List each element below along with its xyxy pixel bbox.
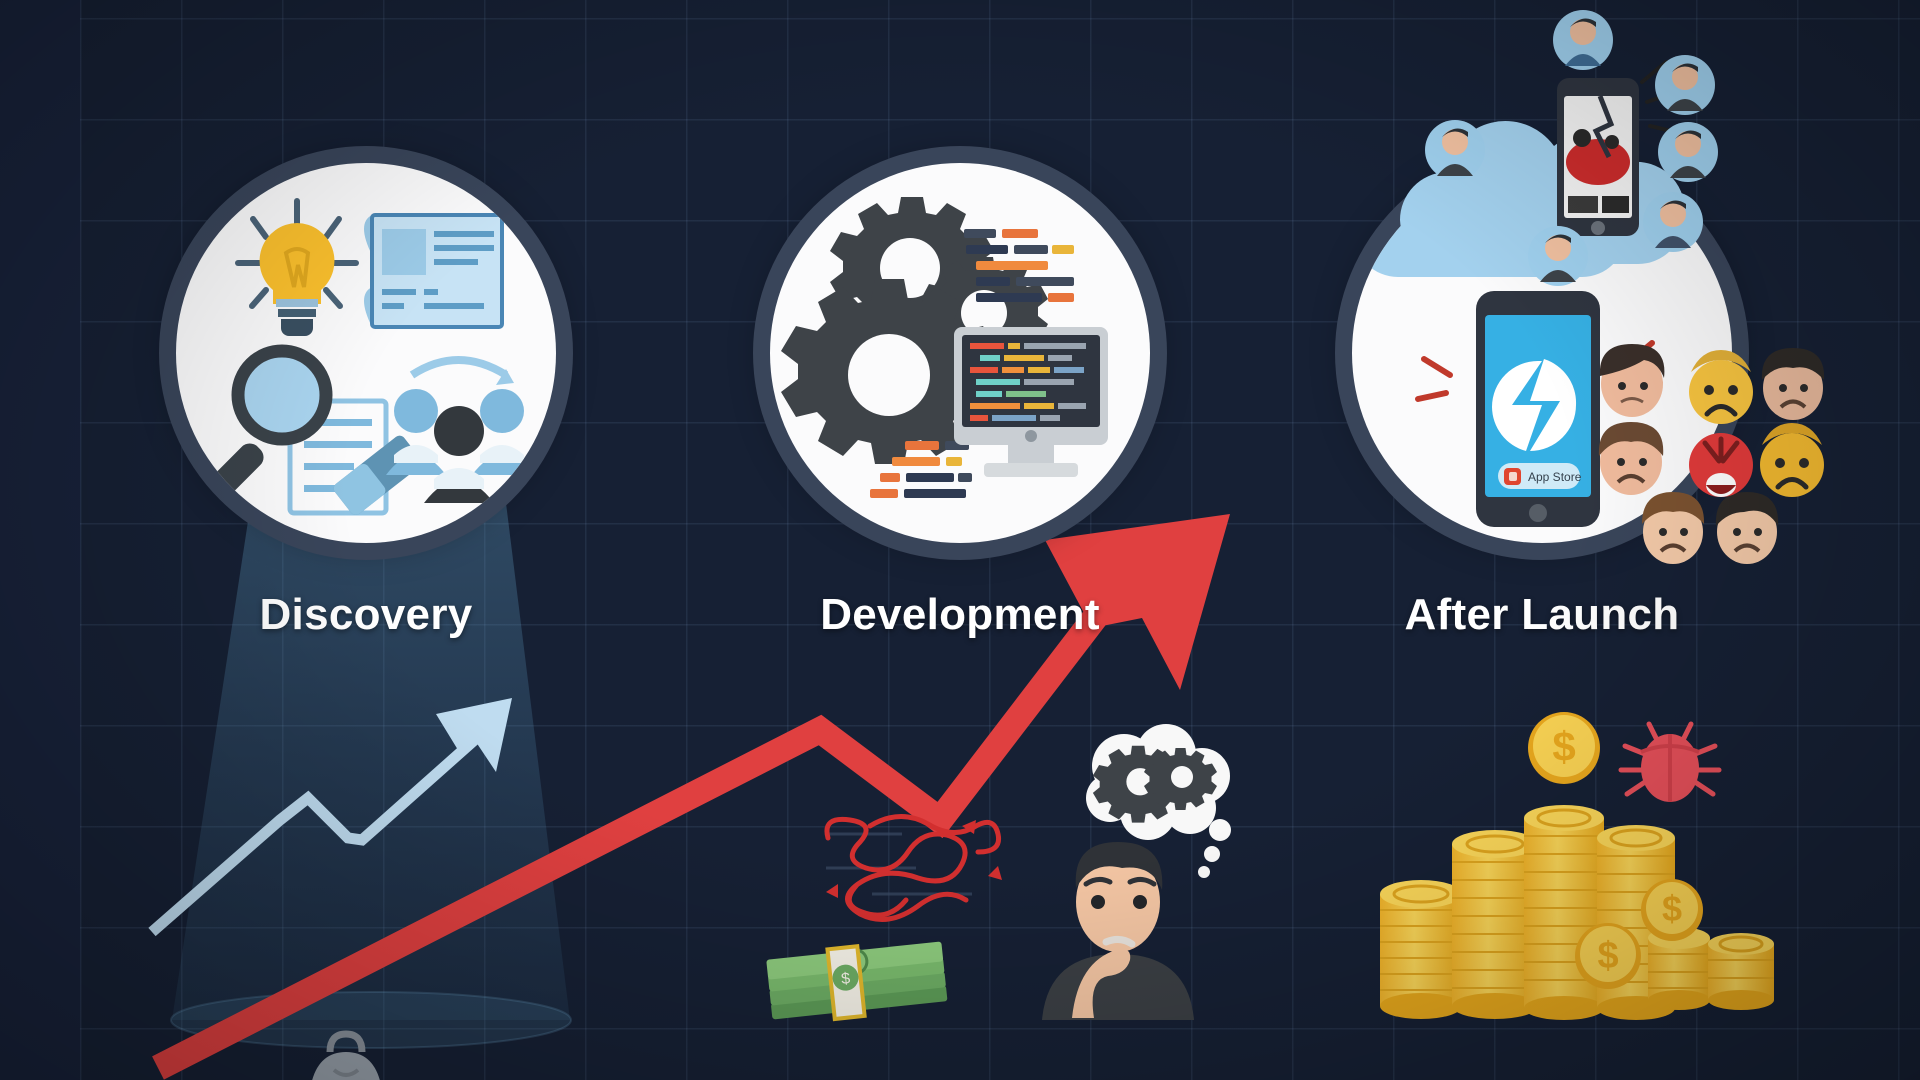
stage-label-discovery: Discovery bbox=[176, 590, 556, 640]
angry-face-human-2 bbox=[1599, 422, 1663, 495]
svg-text:$: $ bbox=[1552, 723, 1575, 770]
angry-face-human-5 bbox=[1762, 348, 1824, 420]
desktop-monitor-icon bbox=[954, 327, 1108, 477]
coin-icon: $ bbox=[1528, 712, 1600, 784]
bug-icon bbox=[1615, 712, 1725, 812]
broken-app-phone-icon: App Store bbox=[1476, 291, 1600, 527]
tangled-red-scribble-icon bbox=[812, 790, 1022, 930]
angry-emoji-yellow-2 bbox=[1760, 423, 1824, 497]
weight-bag-icon bbox=[290, 1030, 400, 1080]
angry-users-cluster bbox=[1595, 352, 1825, 567]
angry-face-human-4 bbox=[1716, 492, 1778, 564]
angry-emoji-red bbox=[1689, 433, 1753, 497]
svg-text:$: $ bbox=[1597, 935, 1618, 977]
angry-emoji-yellow-1 bbox=[1689, 350, 1753, 424]
user-avatar-top-icon bbox=[1553, 10, 1613, 70]
after-launch-cloud-overflow bbox=[1380, 10, 1800, 300]
angry-face-human-3 bbox=[1642, 492, 1704, 564]
money-stack-icon: $ $ bbox=[762, 936, 962, 1046]
gear-thought-bubble-icon bbox=[1062, 720, 1252, 890]
user-avatar-bottom-icon bbox=[1643, 192, 1703, 252]
app-store-badge-label: App Store bbox=[1528, 470, 1582, 484]
svg-text:$: $ bbox=[1662, 888, 1682, 929]
user-avatar-left-icon bbox=[1425, 120, 1485, 180]
stage-label-development: Development bbox=[770, 590, 1150, 640]
angry-face-human-1 bbox=[1600, 344, 1665, 417]
user-avatar-center-icon bbox=[1528, 226, 1588, 286]
team-collaboration-icon bbox=[386, 360, 532, 503]
coin-icon: $ bbox=[1575, 923, 1641, 989]
coin-icon: $ bbox=[1641, 879, 1703, 941]
blueprint-icon bbox=[364, 215, 502, 327]
stage-circle-discovery[interactable] bbox=[176, 163, 556, 543]
lightbulb-icon bbox=[238, 201, 356, 336]
coin-stacks-icon: $ bbox=[1352, 710, 1792, 1040]
stage-circle-development[interactable] bbox=[770, 163, 1150, 543]
infographic-canvas: Discovery bbox=[0, 0, 1920, 1080]
left-margin-band bbox=[0, 0, 81, 1080]
svg-text:$: $ bbox=[840, 970, 851, 988]
user-avatar-right-icon bbox=[1655, 55, 1715, 115]
stage-label-after-launch: After Launch bbox=[1352, 590, 1732, 640]
user-avatar-right2-icon bbox=[1658, 122, 1718, 182]
